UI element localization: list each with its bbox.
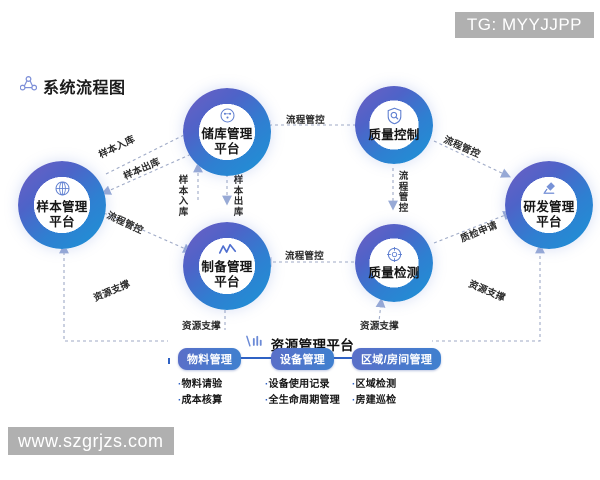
resource-item: 成本核算 [178,393,222,409]
resource-column-materials[interactable]: 物料管理 物料请验 成本核算 [178,348,241,408]
edge-label-qc-to-qtest: 流程管控 [398,172,409,215]
node-label: 研发管理平台 [523,200,574,230]
resource-column-equipment[interactable]: 设备管理 设备使用记录 全生命周期管理 [265,348,340,408]
node-quality-control[interactable]: 质量控制 [355,86,433,164]
bars-logo-icon [246,334,265,354]
node-label: 样本管理平台 [36,200,87,230]
resource-items-area-room: 区域检测 房建巡检 [352,377,396,408]
globe-grid-icon [54,180,71,197]
flowchart-canvas: TG: MYYJJPP www.szgrjzs.com 系统流程图 [0,0,600,480]
resource-pill-equipment[interactable]: 设备管理 [271,348,334,370]
connector-layer [0,0,600,480]
chart-zigzag-icon [218,242,237,257]
microscope-icon [540,180,558,197]
resource-item: 物料请验 [178,377,222,393]
resource-pill-materials[interactable]: 物料管理 [178,348,241,370]
node-label: 制备管理平台 [201,260,252,290]
node-rd-management-platform[interactable]: 研发管理平台 [505,161,593,249]
resource-item: 全生命周期管理 [265,393,340,409]
node-label: 质量检测 [368,266,419,281]
node-storage-management-platform[interactable]: 储库管理平台 [183,88,271,176]
resource-items-equipment: 设备使用记录 全生命周期管理 [265,377,340,408]
edge-label-prep-to-storage: 样本入库 [178,176,189,219]
edge-label-storage-to-prep: 样本出库 [233,176,244,219]
node-sample-management-platform[interactable]: 样本管理平台 [18,161,106,249]
node-quality-testing[interactable]: 质量检测 [355,224,433,302]
node-ring [355,224,433,302]
storage-dots-icon [219,107,236,124]
edge-label-qtest-to-prep: 流程管控 [285,248,324,262]
resource-item: 房建巡检 [352,393,396,409]
edge-label-qc-to-storage: 流程管控 [286,112,325,126]
resource-item: 设备使用记录 [265,377,340,393]
resource-items-materials: 物料请验 成本核算 [178,377,222,408]
shield-search-icon [386,107,403,125]
target-crosshair-icon [386,246,403,263]
node-preparation-management-platform[interactable]: 制备管理平台 [183,222,271,310]
resource-column-area-room[interactable]: 区域/房间管理 区域检测 房建巡检 [352,348,441,408]
node-label: 质量控制 [368,128,419,143]
resource-item: 区域检测 [352,377,396,393]
resource-pill-area-room[interactable]: 区域/房间管理 [352,348,441,370]
node-label: 储库管理平台 [201,127,252,157]
